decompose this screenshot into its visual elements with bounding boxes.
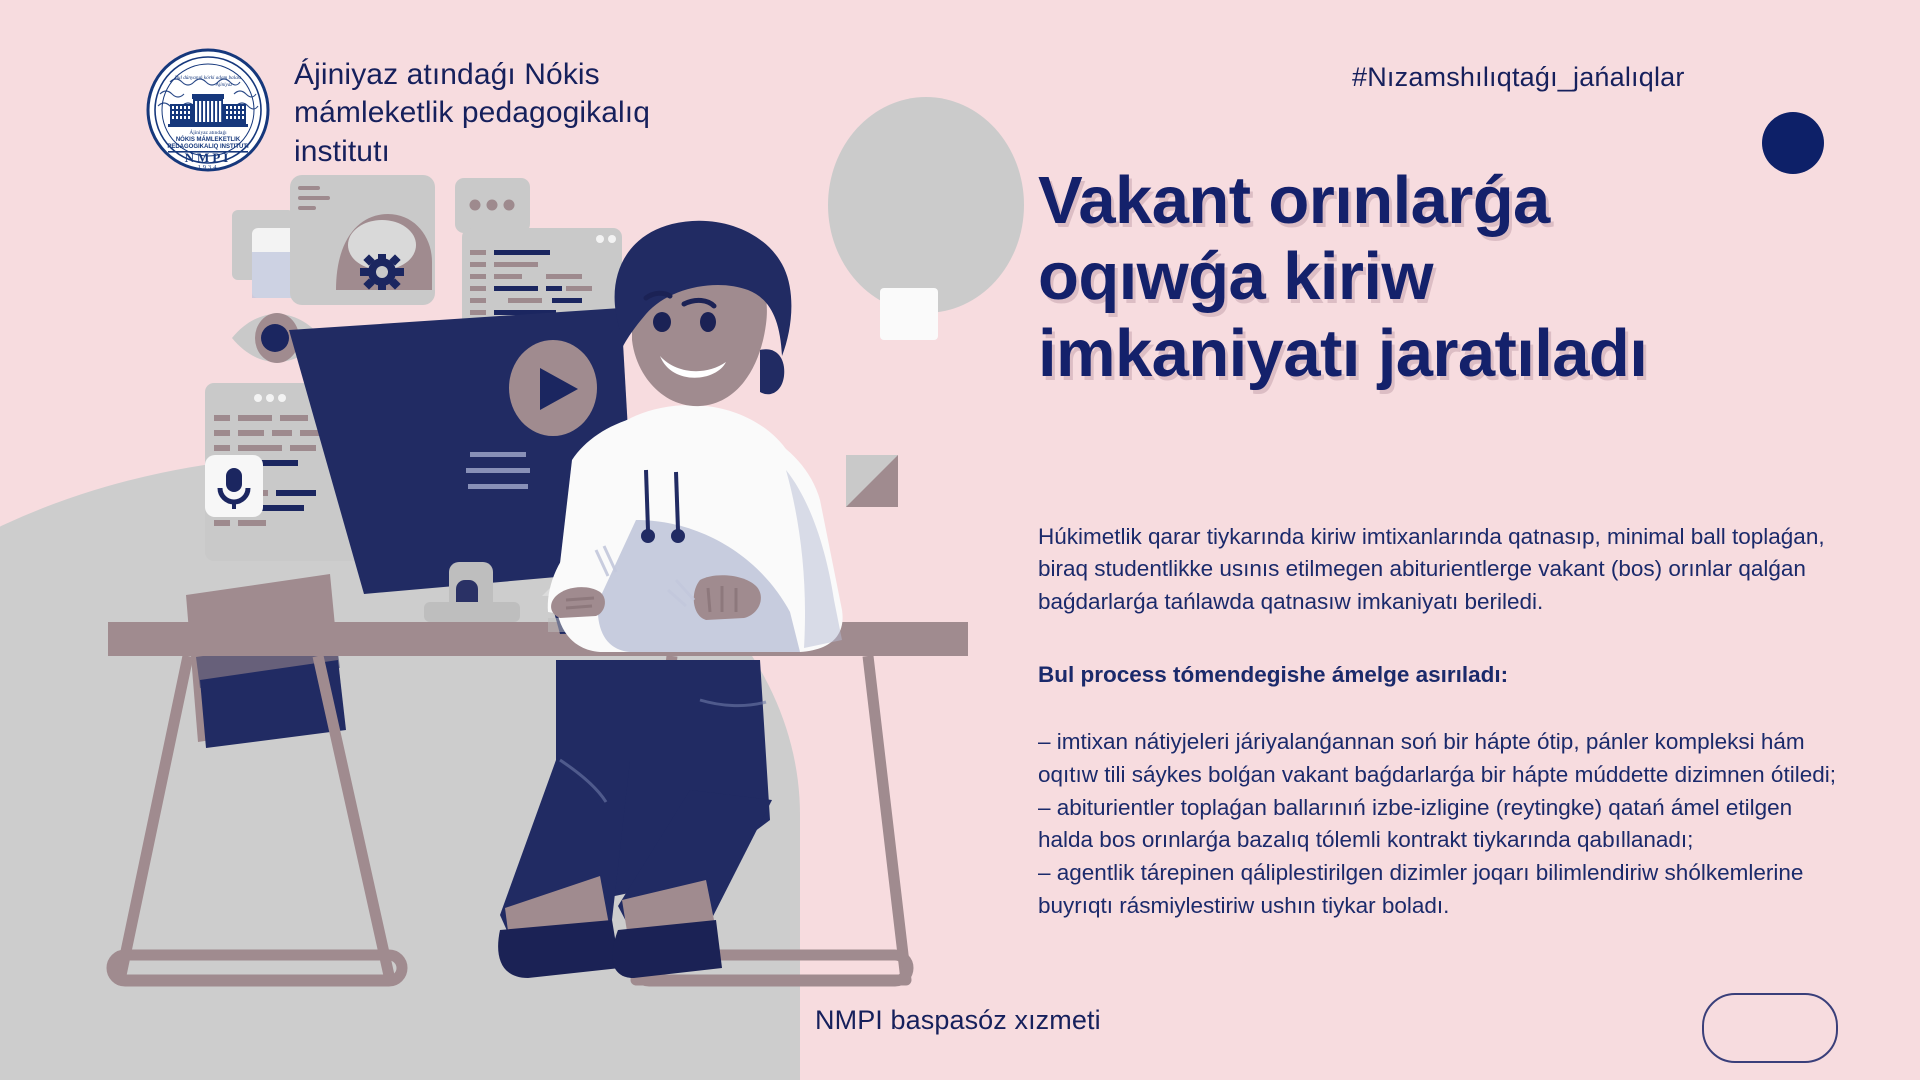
- hashtag-label: #Nızamshılıqtaǵı_jańalıqlar: [1352, 62, 1685, 93]
- play-button-icon: [509, 340, 597, 436]
- institute-name-line-1: Ájiniyaz atındaǵı Nókis: [294, 56, 650, 94]
- poster-canvas: Bul dúnyanıń kórki adam balası Ájiniyaz: [0, 0, 1920, 1080]
- press-service-credit: NMPI baspasóz xızmeti: [815, 1005, 1101, 1036]
- institute-name-line-3: institutı: [294, 133, 650, 171]
- page-title: Vakant orınlarǵa oqıwǵa kiriw imkaniyatı…: [1038, 163, 1738, 392]
- microphone-icon: [205, 455, 263, 517]
- svg-text:Ájiniyaz atındaǵı: Ájiniyaz atındaǵı: [189, 128, 227, 136]
- list-item: – agentlik tárepinen qáliplestirilgen di…: [1038, 857, 1848, 923]
- process-subheading: Bul process tómendegishe ámelge asırılad…: [1038, 659, 1848, 692]
- list-item: – abiturientler toplaǵan ballarınıń izbe…: [1038, 792, 1848, 858]
- brain-gear-card: [290, 175, 435, 305]
- process-list: – imtixan nátiyjeleri járiyalanǵannan so…: [1038, 726, 1848, 923]
- institute-name: Ájiniyaz atındaǵı Nókis mámleketlik peda…: [294, 48, 650, 171]
- lead-paragraph: Húkimetlik qarar tiykarında kiriw imtixa…: [1038, 521, 1848, 620]
- institute-seal-logo: Bul dúnyanıń kórki adam balası Ájiniyaz: [146, 48, 270, 172]
- svg-text:NMPI: NMPI: [185, 150, 232, 165]
- decorative-navy-circle: [1762, 112, 1824, 174]
- decorative-triangle-card-right: [846, 455, 898, 507]
- brand-lockup: Bul dúnyanıń kórki adam balası Ájiniyaz: [146, 48, 650, 172]
- article-body: Húkimetlik qarar tiykarında kiriw imtixa…: [1038, 498, 1848, 923]
- institute-name-line-2: mámleketlik pedagogikalıq: [294, 94, 650, 132]
- svg-text:1934: 1934: [198, 164, 219, 171]
- svg-text:Ájiniyaz: Ájiniyaz: [215, 82, 232, 88]
- decorative-white-card-right: [880, 288, 938, 340]
- list-item: – imtixan nátiyjeleri járiyalanǵannan so…: [1038, 726, 1848, 792]
- decorative-pill-outline: [1702, 993, 1838, 1063]
- svg-text:NÓKIS MÁMLEKETLIK: NÓKIS MÁMLEKETLIK: [176, 135, 241, 143]
- svg-text:Bul dúnyanıń kórki adam balası: Bul dúnyanıń kórki adam balası: [175, 75, 242, 81]
